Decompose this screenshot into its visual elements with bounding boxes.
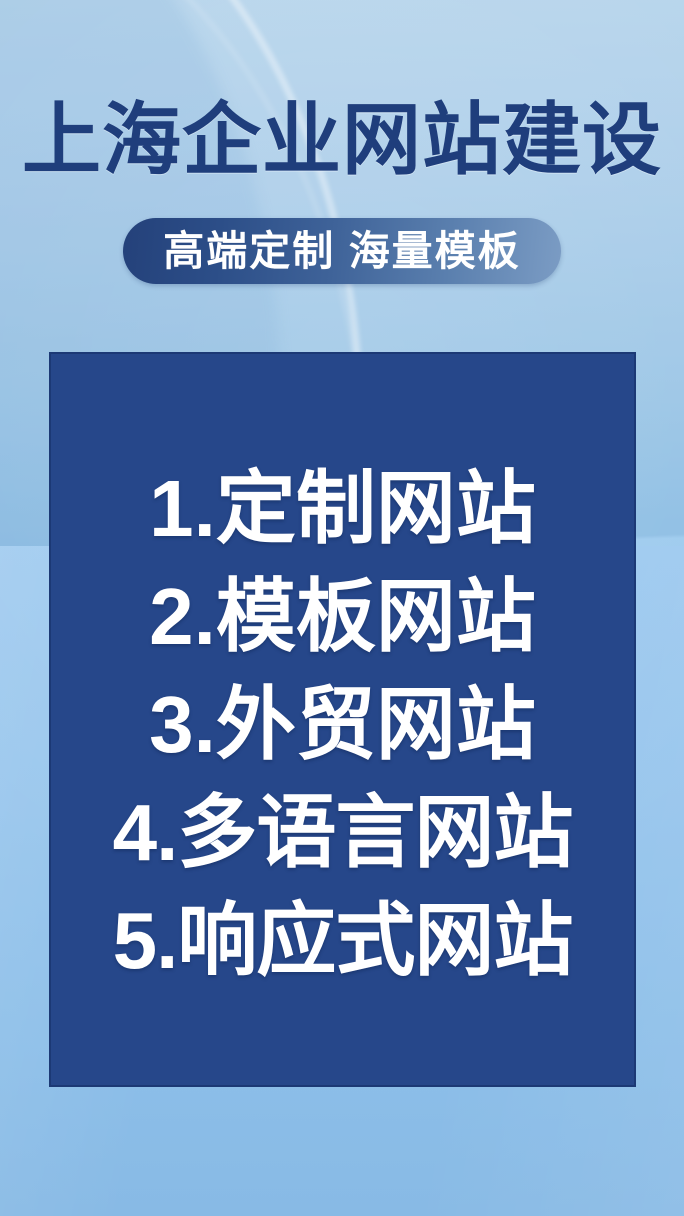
service-list: 1.定制网站 2.模板网站 3.外贸网站 4.多语言网站 5.响应式网站	[49, 352, 636, 1087]
list-item: 2.模板网站	[149, 563, 536, 671]
tagline-badge-label: 高端定制 海量模板	[163, 227, 520, 275]
tagline-badge: 高端定制 海量模板	[123, 218, 560, 284]
list-item: 5.响应式网站	[113, 887, 573, 995]
service-list-panel: 1.定制网站 2.模板网站 3.外贸网站 4.多语言网站 5.响应式网站	[49, 352, 636, 1087]
list-item: 4.多语言网站	[113, 779, 573, 887]
list-item: 1.定制网站	[149, 455, 536, 563]
page-title: 上海企业网站建设	[0, 97, 684, 183]
poster-canvas: 上海企业网站建设 高端定制 海量模板 1.定制网站 2.模板网站 3.外贸网站 …	[0, 0, 684, 1216]
list-item: 3.外贸网站	[149, 671, 536, 779]
badge-container: 高端定制 海量模板	[0, 218, 684, 284]
